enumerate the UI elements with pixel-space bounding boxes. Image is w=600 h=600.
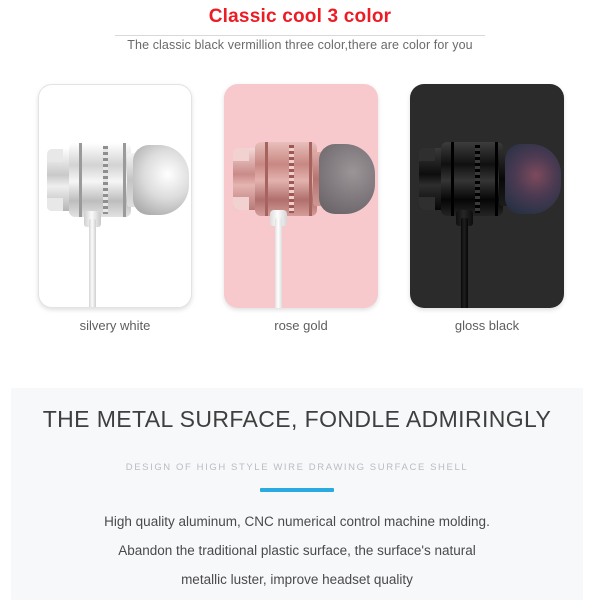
earbud-illustration — [45, 133, 192, 229]
feature-subheading: DESIGN OF HIGH STYLE WIRE DRAWING SURFAC… — [11, 462, 583, 473]
earbud-illustration — [231, 132, 378, 228]
color-variant-item[interactable]: rose gold — [224, 84, 378, 308]
color-variant-label: rose gold — [224, 318, 378, 333]
earbud-cap-facet-bottom — [47, 198, 63, 211]
earbud-cap-facet-bottom — [233, 197, 249, 210]
color-variant-label: gloss black — [410, 318, 564, 333]
color-variant-item[interactable]: silvery white — [38, 84, 192, 308]
earbud-groove-ring-1 — [451, 142, 454, 216]
title-divider — [115, 35, 485, 36]
color-variant-label: silvery white — [38, 318, 192, 333]
earbud-cap-facet-top — [233, 148, 249, 161]
product-image-rose-gold[interactable] — [224, 84, 378, 308]
earbud-groove-ring-2 — [309, 142, 312, 216]
feature-body-line: High quality aluminum, CNC numerical con… — [11, 514, 583, 529]
earbud-groove-ring-2 — [123, 143, 126, 217]
earbud-illustration — [417, 132, 564, 228]
product-image-silvery-white[interactable] — [38, 84, 192, 308]
accent-underline — [260, 488, 334, 492]
earbud-cap-facet-top — [47, 149, 63, 162]
earbud-ear-tip — [319, 144, 375, 214]
product-image-gloss-black[interactable] — [410, 84, 564, 308]
earbud-ear-tip — [133, 145, 189, 215]
color-variant-gallery: silvery white rose gold — [0, 84, 600, 344]
earbud-knurled-band — [103, 146, 108, 214]
feature-section: THE METAL SURFACE, FONDLE ADMIRINGLY DES… — [11, 388, 583, 600]
earbud-groove-ring-1 — [79, 143, 82, 217]
earbud-groove-ring-2 — [495, 142, 498, 216]
page-title: Classic cool 3 color — [0, 6, 600, 28]
earbud-cap-facet-top — [419, 148, 435, 161]
earbud-cable — [89, 219, 96, 308]
feature-heading: THE METAL SURFACE, FONDLE ADMIRINGLY — [11, 406, 583, 433]
product-detail-page: Classic cool 3 color The classic black v… — [0, 0, 600, 600]
earbud-knurled-band — [475, 145, 480, 213]
feature-body-line: Abandon the traditional plastic surface,… — [11, 543, 583, 558]
earbud-cap-facet-bottom — [419, 197, 435, 210]
earbud-cable — [461, 218, 468, 308]
earbud-ear-tip — [505, 144, 561, 214]
earbud-knurled-band — [289, 145, 294, 213]
earbud-cable — [275, 218, 282, 308]
color-variant-item[interactable]: gloss black — [410, 84, 564, 308]
page-subtitle: The classic black vermillion three color… — [0, 38, 600, 52]
feature-body-line: metallic luster, improve headset quality — [11, 572, 583, 587]
earbud-groove-ring-1 — [265, 142, 268, 216]
